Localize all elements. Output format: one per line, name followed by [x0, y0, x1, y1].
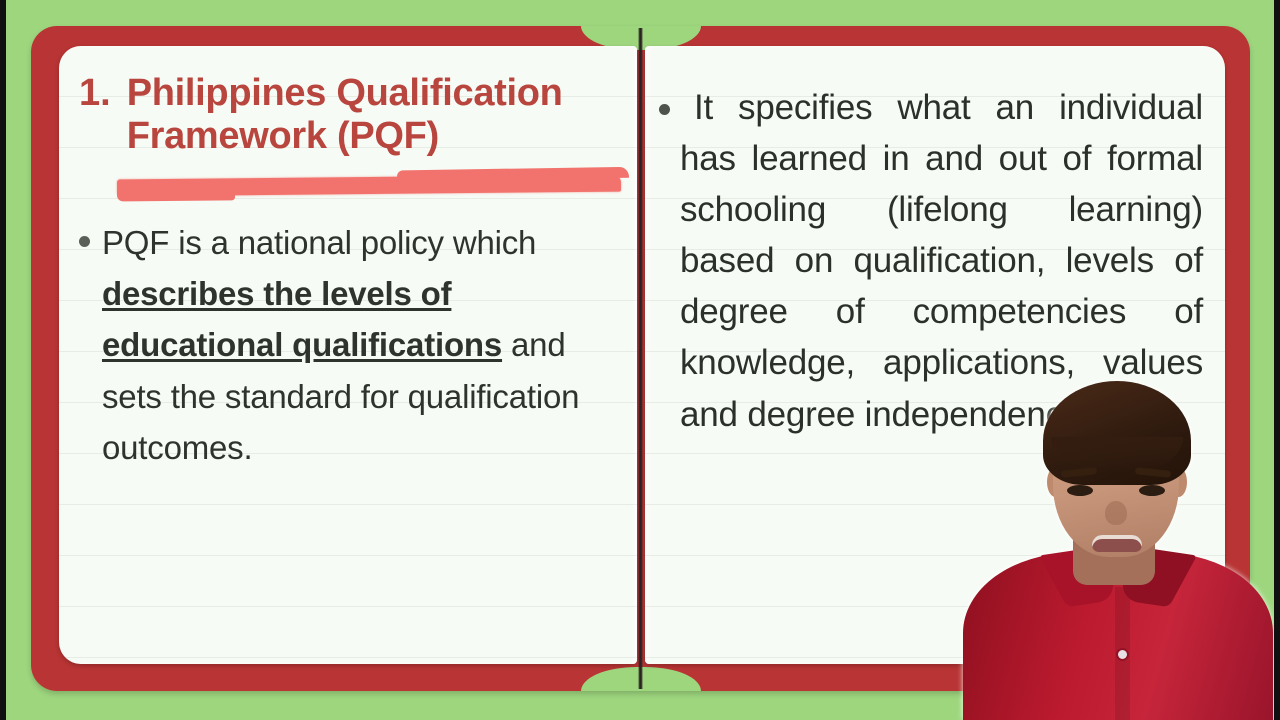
bullet-dot-icon	[659, 104, 670, 115]
highlighter-underline	[79, 169, 615, 207]
left-bullet-text: PQF is a national policy which describes…	[102, 217, 615, 473]
left-page: 1. Philippines Qualification Framework (…	[59, 46, 637, 664]
list-item: PQF is a national policy which describes…	[79, 217, 615, 473]
presenter-webcam-overlay	[955, 355, 1280, 720]
video-left-border	[0, 0, 6, 720]
page-title: Philippines Qualification Framework (PQF…	[127, 72, 615, 157]
slide-screenshot: 1. Philippines Qualification Framework (…	[0, 0, 1280, 720]
presenter-eye-right	[1139, 485, 1165, 496]
presenter-mouth	[1092, 535, 1142, 552]
left-page-heading: 1. Philippines Qualification Framework (…	[79, 72, 615, 157]
bullet-dot-icon	[79, 236, 90, 247]
bullet-segment-emphasis: describes the levels of educational qual…	[102, 275, 502, 363]
presenter-nose	[1105, 501, 1127, 525]
presenter-eye-left	[1067, 485, 1093, 496]
presenter-shirt-button	[1118, 650, 1127, 659]
bullet-segment-plain-1: PQF is a national policy which	[102, 224, 536, 261]
highlighter-stroke	[117, 175, 621, 197]
book-spine	[638, 28, 643, 689]
video-right-border	[1274, 0, 1280, 720]
heading-number: 1.	[79, 72, 111, 115]
